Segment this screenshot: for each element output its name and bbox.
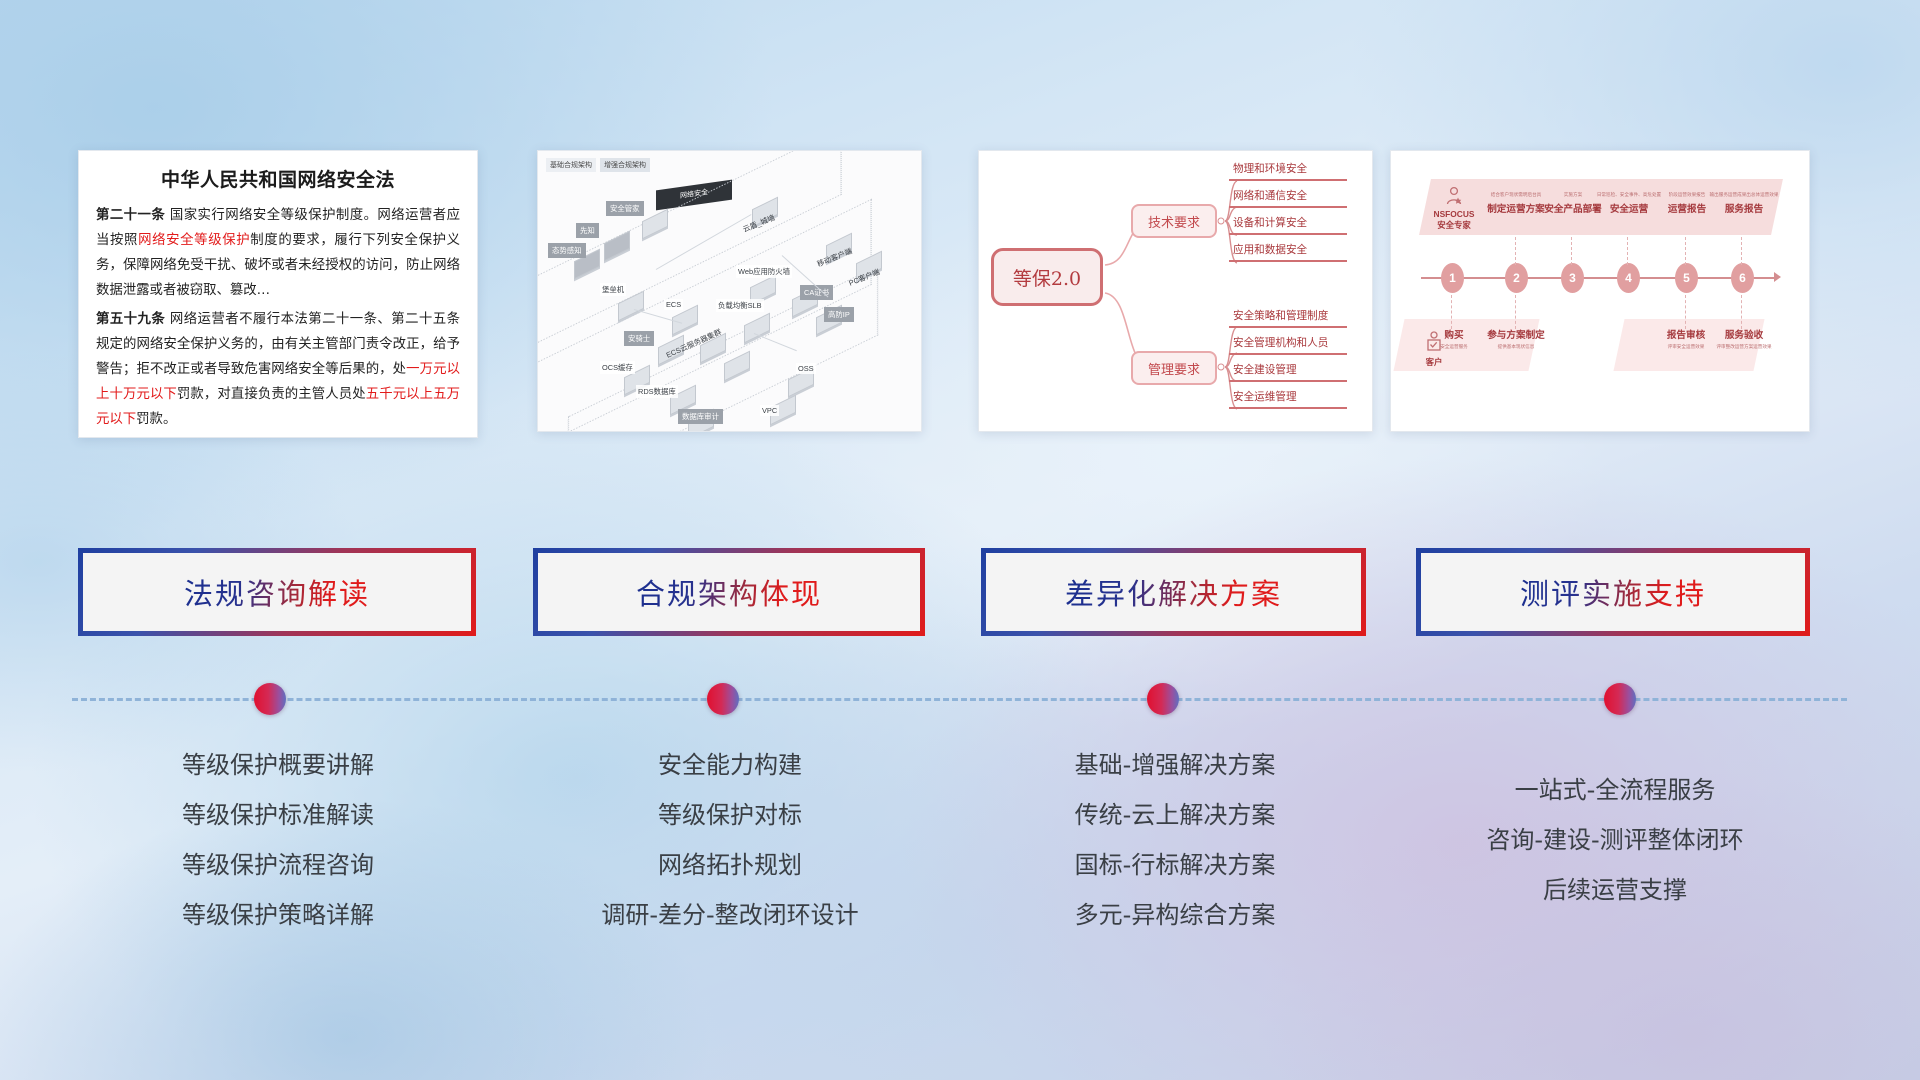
list-item: 调研-差分-整改闭环设计 xyxy=(530,890,930,940)
timeline-bottom-sub: 提供基本现状信息 xyxy=(1479,344,1553,350)
list-item: 等级保护标准解读 xyxy=(78,790,478,840)
label-box-regulation-consulting[interactable]: 法规咨询解读 xyxy=(78,548,476,636)
label-box-assessment-support[interactable]: 测评实施支持 xyxy=(1416,548,1810,636)
mindmap-leaf: 安全运维管理 xyxy=(1229,387,1347,409)
expert-avatar-icon xyxy=(1443,185,1465,207)
architecture-label: ECS xyxy=(664,299,683,310)
label-text: 合规架构体现 xyxy=(636,571,822,613)
timeline-step-dot[interactable]: 5 xyxy=(1675,263,1698,293)
law-title: 中华人民共和国网络安全法 xyxy=(96,165,460,192)
detail-list-assessment-support: 一站式-全流程服务 咨询-建设-测评整体闭环 后续运营支撑 xyxy=(1400,765,1830,915)
list-item: 基础-增强解决方案 xyxy=(975,740,1375,790)
label-box-compliance-architecture[interactable]: 合规架构体现 xyxy=(533,548,925,636)
timeline-step-dot[interactable]: 2 xyxy=(1505,263,1528,293)
customer-label: 客户 xyxy=(1405,357,1463,368)
timeline-step-dot[interactable]: 1 xyxy=(1441,263,1464,293)
detail-list-differentiated-solution: 基础-增强解决方案 传统-云上解决方案 国标-行标解决方案 多元-异构综合方案 xyxy=(975,740,1375,940)
label-text: 测评实施支持 xyxy=(1520,571,1706,613)
list-item: 等级保护对标 xyxy=(530,790,930,840)
mindmap-leaf-group-management: 安全策略和管理制度 安全管理机构和人员 安全建设管理 安全运维管理 xyxy=(1229,306,1347,414)
architecture-label: 态势感知 xyxy=(548,243,586,258)
list-item: 等级保护策略详解 xyxy=(78,890,478,940)
label-text: 法规咨询解读 xyxy=(184,571,370,613)
tab-enhanced-architecture[interactable]: 增强合规架构 xyxy=(600,158,650,172)
timeline-tick xyxy=(1685,295,1686,329)
timeline-bottom-main: 参与方案制定 xyxy=(1479,327,1553,341)
architecture-label: 安全管家 xyxy=(606,201,644,216)
architecture-label: 安骑士 xyxy=(624,331,654,346)
list-item: 后续运营支撑 xyxy=(1400,865,1830,915)
law-run-text: 罚款。 xyxy=(136,412,176,427)
mindmap-leaf: 安全策略和管理制度 xyxy=(1229,306,1347,328)
label-box-differentiated-solution[interactable]: 差异化解决方案 xyxy=(981,548,1366,636)
law-article-number: 第五十九条 xyxy=(96,312,165,327)
architecture-label: 先知 xyxy=(576,223,599,238)
timeline-marker-3[interactable] xyxy=(1147,683,1179,715)
list-item: 传统-云上解决方案 xyxy=(975,790,1375,840)
timeline-tick xyxy=(1451,295,1452,329)
card-cloud-architecture[interactable]: 基础合规架构 增强合规架构 网络安全 xyxy=(537,150,922,432)
timeline-bottom-item: 参与方案制定 提供基本现状信息 xyxy=(1479,327,1553,350)
timeline-bottom-main: 服务验收 xyxy=(1707,327,1781,341)
mindmap-leaf: 安全管理机构和人员 xyxy=(1229,333,1347,355)
timeline-arrow-icon xyxy=(1774,272,1781,282)
list-item: 等级保护流程咨询 xyxy=(78,840,478,890)
mindmap: 等保2.0 技术要求 管理要求 物理和环境安全 网络和通信安全 设备和计算安全 … xyxy=(979,151,1372,431)
mindmap-leaf: 应用和数据安全 xyxy=(1229,240,1347,262)
timeline-tick xyxy=(1685,237,1686,265)
timeline-tick xyxy=(1627,237,1628,265)
timeline-tick xyxy=(1515,237,1516,265)
list-item: 网络拓扑规划 xyxy=(530,840,930,890)
mindmap-branch-technical[interactable]: 技术要求 xyxy=(1131,204,1217,238)
architecture-label: VPC xyxy=(760,405,779,416)
mindmap-leaf: 网络和通信安全 xyxy=(1229,186,1347,208)
mindmap-leaf: 安全建设管理 xyxy=(1229,360,1347,382)
list-item: 一站式-全流程服务 xyxy=(1400,765,1830,815)
timeline-tick xyxy=(1741,295,1742,329)
timeline-marker-1[interactable] xyxy=(254,683,286,715)
law-paragraph-59: 第五十九条 网络运营者不履行本法第二十一条、第二十五条规定的网络安全保护义务的，… xyxy=(96,307,460,432)
architecture-label: RDS数据库 xyxy=(636,385,678,398)
mindmap-leaf-group-technical: 物理和环境安全 网络和通信安全 设备和计算安全 应用和数据安全 xyxy=(1229,159,1347,267)
mindmap-branch-management[interactable]: 管理要求 xyxy=(1131,351,1217,385)
timeline-step-dot[interactable]: 3 xyxy=(1561,263,1584,293)
timeline-top-item: 输出服务运营成果出总体运营效果 服务报告 xyxy=(1707,191,1781,215)
timeline-step-dot[interactable]: 4 xyxy=(1617,263,1640,293)
list-item: 等级保护概要讲解 xyxy=(78,740,478,790)
law-article-number: 第二十一条 xyxy=(96,208,165,223)
expert-name-line2: 安全专家 xyxy=(1425,220,1483,231)
architecture-label: 堡垒机 xyxy=(600,283,626,296)
architecture-tabs: 基础合规架构 增强合规架构 xyxy=(546,158,650,172)
timeline-bottom-item: 服务验收 评审整改运营方案运营效果 xyxy=(1707,327,1781,350)
timeline-top-main: 服务报告 xyxy=(1707,201,1781,215)
timeline-strip xyxy=(0,680,1920,720)
law-run-text: 罚款，对直接负责的主管人员处 xyxy=(177,387,366,402)
mindmap-root-node[interactable]: 等保2.0 xyxy=(991,248,1103,306)
timeline-marker-4[interactable] xyxy=(1604,683,1636,715)
architecture-label: 负载均衡SLB xyxy=(716,299,764,312)
detail-list-regulation-consulting: 等级保护概要讲解 等级保护标准解读 等级保护流程咨询 等级保护策略详解 xyxy=(78,740,478,940)
nsfocus-timeline: NSFOCUS 安全专家 客户 1 2 3 4 5 6 xyxy=(1391,151,1809,431)
timeline-tick xyxy=(1571,237,1572,265)
list-item: 咨询-建设-测评整体闭环 xyxy=(1400,815,1830,865)
mindmap-leaf: 设备和计算安全 xyxy=(1229,213,1347,235)
label-text: 差异化解决方案 xyxy=(1065,571,1282,613)
architecture-label: 高防IP xyxy=(824,307,854,322)
tab-basic-architecture[interactable]: 基础合规架构 xyxy=(546,158,596,172)
timeline-step-dot[interactable]: 6 xyxy=(1731,263,1754,293)
timeline-top-sub: 输出服务运营成果出总体运营效果 xyxy=(1707,191,1781,198)
timeline-axis xyxy=(1421,277,1776,279)
timeline-tick xyxy=(1741,237,1742,265)
architecture-label: OSS xyxy=(796,363,816,374)
architecture-label: Web应用防火墙 xyxy=(736,265,792,278)
list-item: 多元-异构综合方案 xyxy=(975,890,1375,940)
detail-list-compliance-architecture: 安全能力构建 等级保护对标 网络拓扑规划 调研-差分-整改闭环设计 xyxy=(530,740,930,940)
architecture-diagram: 基础合规架构 增强合规架构 网络安全 xyxy=(538,151,921,431)
card-cybersecurity-law[interactable]: 中华人民共和国网络安全法 第二十一条 国家实行网络安全等级保护制度。网络运营者应… xyxy=(78,150,478,438)
image-card-row: 中华人民共和国网络安全法 第二十一条 国家实行网络安全等级保护制度。网络运营者应… xyxy=(0,150,1920,450)
detail-list-row: 等级保护概要讲解 等级保护标准解读 等级保护流程咨询 等级保护策略详解 安全能力… xyxy=(0,740,1920,960)
list-item: 国标-行标解决方案 xyxy=(975,840,1375,890)
architecture-label: 数据库审计 xyxy=(678,409,723,424)
card-nsfocus-timeline[interactable]: NSFOCUS 安全专家 客户 1 2 3 4 5 6 xyxy=(1390,150,1810,432)
label-box-row: 法规咨询解读 合规架构体现 差异化解决方案 测评实施支持 xyxy=(0,548,1920,648)
card-mindmap-dengbao[interactable]: 等保2.0 技术要求 管理要求 物理和环境安全 网络和通信安全 设备和计算安全 … xyxy=(978,150,1373,432)
persona-expert: NSFOCUS 安全专家 xyxy=(1425,185,1483,231)
timeline-tick xyxy=(1515,295,1516,329)
expert-name-line1: NSFOCUS xyxy=(1425,209,1483,220)
timeline-bottom-sub: 评审整改运营方案运营效果 xyxy=(1707,344,1781,350)
timeline-dashed-line xyxy=(72,698,1847,701)
timeline-marker-2[interactable] xyxy=(707,683,739,715)
architecture-label: OCS缓存 xyxy=(600,361,635,374)
mindmap-leaf: 物理和环境安全 xyxy=(1229,159,1347,181)
list-item: 安全能力构建 xyxy=(530,740,930,790)
law-run-highlight: 网络安全等级保护 xyxy=(138,233,250,248)
law-paragraph-21: 第二十一条 国家实行网络安全等级保护制度。网络运营者应当按照网络安全等级保护制度… xyxy=(96,203,460,303)
